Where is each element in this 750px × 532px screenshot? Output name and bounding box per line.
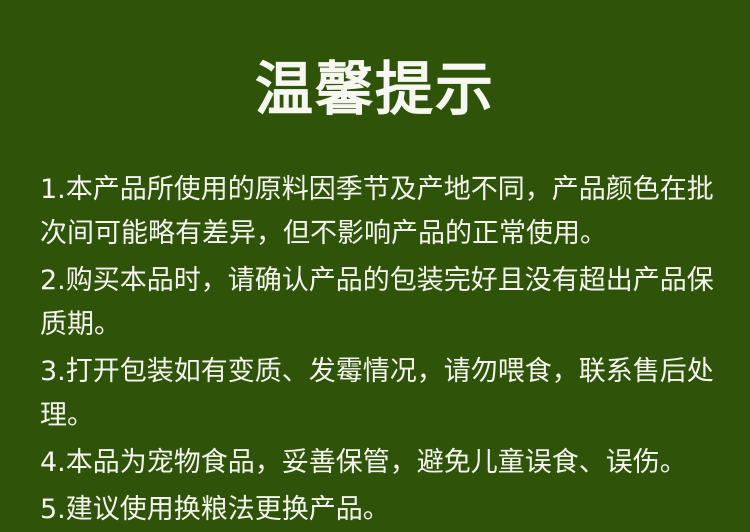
list-item: 5.建议使用换粮法更换产品。 <box>40 488 716 532</box>
page-title: 温馨提示 <box>0 54 750 124</box>
notice-list: 1.本产品所使用的原料因季节及产地不同，产品颜色在批次间可能略有差异，但不影响产… <box>40 168 716 532</box>
list-item: 4.本品为宠物食品，妥善保管，避免儿童误食、误伤。 <box>40 441 716 485</box>
list-item: 1.本产品所使用的原料因季节及产地不同，产品颜色在批次间可能略有差异，但不影响产… <box>40 168 716 256</box>
list-item: 3.打开包装如有变质、发霉情况，请勿喂食，联系售后处理。 <box>40 350 716 438</box>
list-item: 2.购买本品时，请确认产品的包装完好且没有超出产品保质期。 <box>40 259 716 347</box>
warm-tips-panel: 温馨提示 1.本产品所使用的原料因季节及产地不同，产品颜色在批次间可能略有差异，… <box>0 0 750 480</box>
